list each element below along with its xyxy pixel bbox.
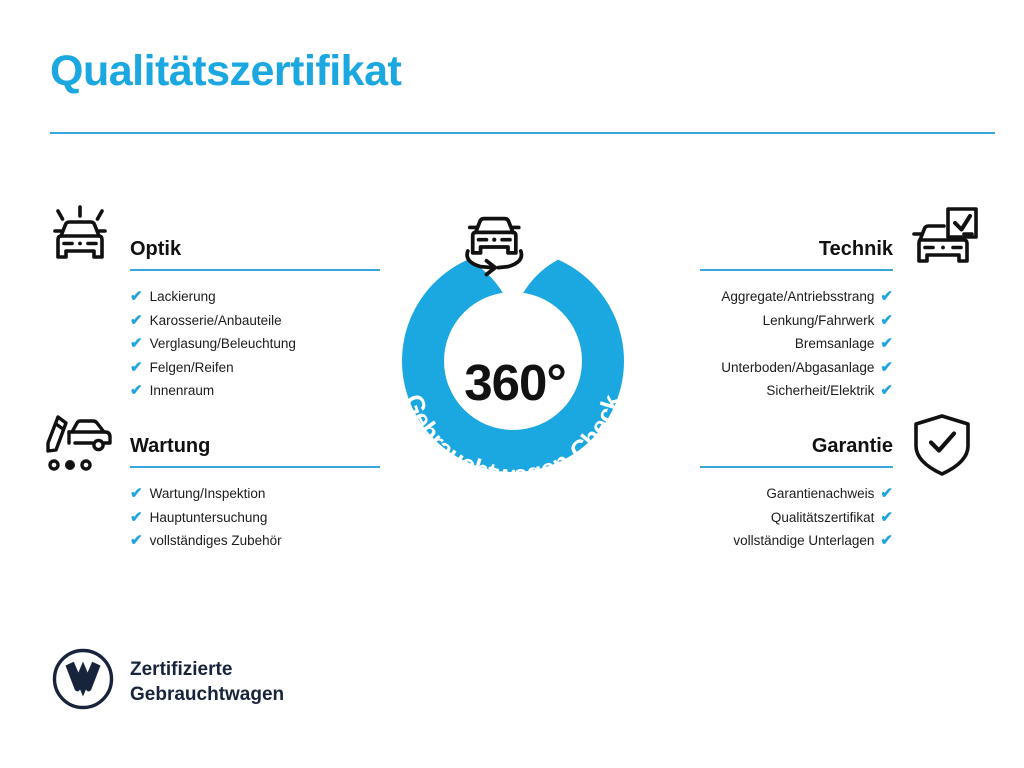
shield-check-icon [910, 412, 974, 483]
list-item: Aggregate/Antriebsstrang✔ [700, 285, 893, 309]
list-item-label: Sicherheit/Elektrik [766, 379, 874, 403]
list-item-label: Aggregate/Antriebsstrang [721, 285, 874, 309]
section-garantie-list: Garantienachweis✔ Qualitätszertifikat✔ v… [700, 482, 893, 553]
footer-line-2: Gebrauchtwagen [130, 682, 284, 707]
list-item-label: Lackierung [150, 285, 216, 309]
check-icon: ✔ [130, 510, 143, 525]
pencil-car-service-icon [44, 412, 118, 481]
section-garantie-divider [700, 466, 893, 468]
check-icon: ✔ [880, 313, 893, 328]
list-item-label: vollständige Unterlagen [733, 529, 874, 553]
footer-brand: Zertifizierte Gebrauchtwagen [52, 648, 284, 715]
badge-360-gebrauchtwagen-check: Gebrauchtwagen-Check 360° [382, 196, 644, 486]
car-checkbox-icon [906, 203, 980, 280]
section-technik: Technik Aggregate/Antriebsstrang✔ Lenkun… [700, 238, 893, 403]
car-shine-icon [44, 203, 116, 280]
list-item: Bremsanlage✔ [700, 332, 893, 356]
list-item: Lenkung/Fahrwerk✔ [700, 309, 893, 333]
list-item-label: Felgen/Reifen [150, 356, 234, 380]
section-wartung-title: Wartung [130, 435, 380, 466]
list-item-label: Garantienachweis [766, 482, 874, 506]
list-item: ✔Karosserie/Anbauteile [130, 309, 380, 333]
list-item: ✔Hauptuntersuchung [130, 506, 380, 530]
title-divider [50, 132, 995, 134]
footer-text: Zertifizierte Gebrauchtwagen [130, 657, 284, 707]
list-item-label: Innenraum [150, 379, 215, 403]
section-optik: Optik ✔Lackierung ✔Karosserie/Anbauteile… [130, 238, 380, 403]
check-icon: ✔ [880, 533, 893, 548]
section-technik-list: Aggregate/Antriebsstrang✔ Lenkung/Fahrwe… [700, 285, 893, 403]
list-item-label: Bremsanlage [795, 332, 875, 356]
check-icon: ✔ [880, 486, 893, 501]
section-optik-title: Optik [130, 238, 380, 269]
section-garantie-title: Garantie [700, 435, 893, 466]
vw-logo [52, 648, 114, 715]
list-item: ✔Verglasung/Beleuchtung [130, 332, 380, 356]
check-icon: ✔ [880, 360, 893, 375]
list-item: ✔Wartung/Inspektion [130, 482, 380, 506]
page-title: Qualitätszertifikat [50, 48, 401, 95]
list-item: ✔Lackierung [130, 285, 380, 309]
list-item: ✔Felgen/Reifen [130, 356, 380, 380]
check-icon: ✔ [130, 289, 143, 304]
list-item: vollständige Unterlagen✔ [700, 529, 893, 553]
check-icon: ✔ [130, 533, 143, 548]
list-item-label: Unterboden/Abgasanlage [721, 356, 874, 380]
check-icon: ✔ [880, 289, 893, 304]
list-item-label: Qualitätszertifikat [771, 506, 875, 530]
check-icon: ✔ [130, 336, 143, 351]
section-garantie: Garantie Garantienachweis✔ Qualitätszert… [700, 435, 893, 553]
list-item-label: Hauptuntersuchung [150, 506, 268, 530]
list-item-label: Wartung/Inspektion [150, 482, 266, 506]
section-technik-divider [700, 269, 893, 271]
section-wartung: Wartung ✔Wartung/Inspektion ✔Hauptunters… [130, 435, 380, 553]
list-item-label: Lenkung/Fahrwerk [763, 309, 875, 333]
section-technik-title: Technik [700, 238, 893, 269]
list-item: ✔Innenraum [130, 379, 380, 403]
list-item-label: Verglasung/Beleuchtung [150, 332, 296, 356]
check-icon: ✔ [130, 383, 143, 398]
list-item: Qualitätszertifikat✔ [700, 506, 893, 530]
section-optik-list: ✔Lackierung ✔Karosserie/Anbauteile ✔Verg… [130, 285, 380, 403]
list-item: ✔vollständiges Zubehör [130, 529, 380, 553]
check-icon: ✔ [130, 313, 143, 328]
list-item: Unterboden/Abgasanlage✔ [700, 356, 893, 380]
check-icon: ✔ [880, 510, 893, 525]
check-icon: ✔ [130, 360, 143, 375]
check-icon: ✔ [880, 383, 893, 398]
list-item: Sicherheit/Elektrik✔ [700, 379, 893, 403]
list-item-label: vollständiges Zubehör [150, 529, 282, 553]
section-wartung-divider [130, 466, 380, 468]
list-item-label: Karosserie/Anbauteile [150, 309, 282, 333]
section-wartung-list: ✔Wartung/Inspektion ✔Hauptuntersuchung ✔… [130, 482, 380, 553]
section-optik-divider [130, 269, 380, 271]
check-icon: ✔ [880, 336, 893, 351]
footer-line-1: Zertifizierte [130, 657, 284, 682]
check-icon: ✔ [130, 486, 143, 501]
list-item: Garantienachweis✔ [700, 482, 893, 506]
